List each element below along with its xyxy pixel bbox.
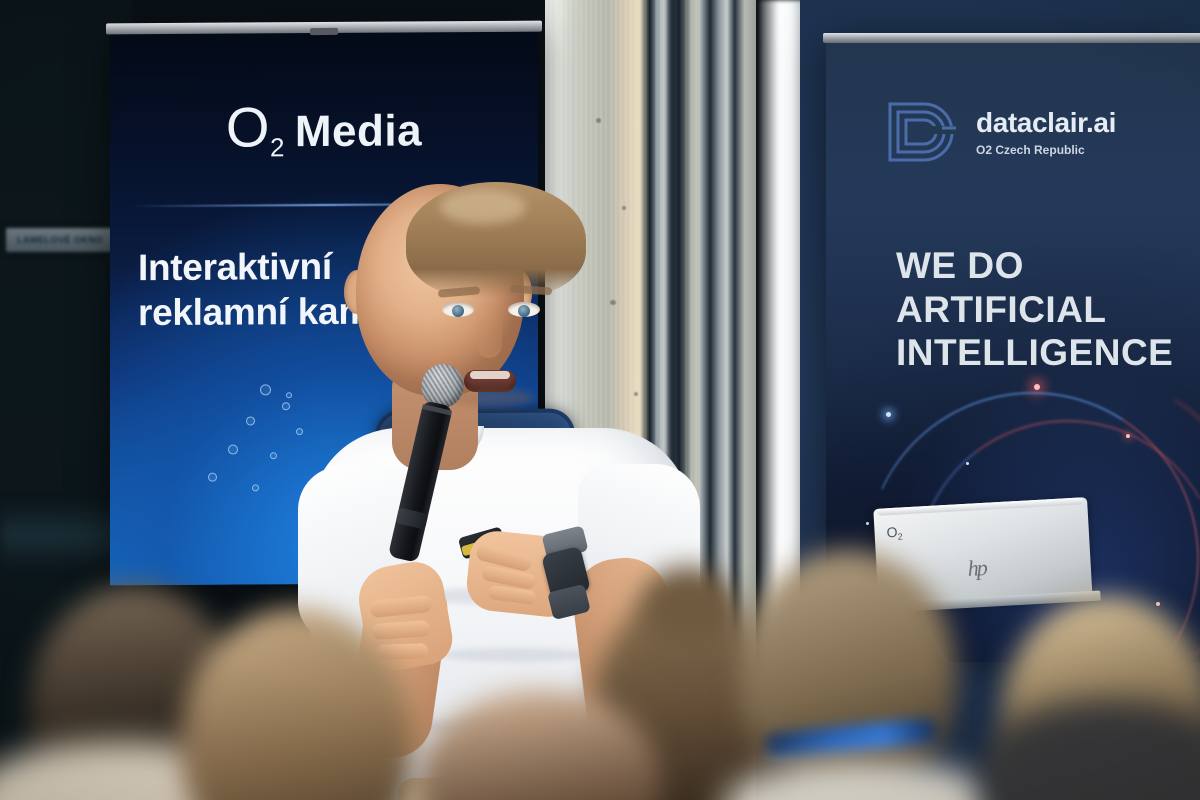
dc-claim-line1: WE DO	[896, 244, 1173, 288]
left-eye	[442, 302, 474, 317]
conference-photo-scene: LAMELOVÉ OKNO O2Media Interaktivní rekla…	[0, 0, 1200, 800]
dataclair-logo-block: dataclair.ai O2 Czech Republic	[884, 98, 1116, 168]
left-iris	[452, 305, 464, 317]
laptop-lid: O2 hp	[873, 497, 1092, 605]
dc-claim-line3: INTELLIGENCE	[896, 331, 1173, 375]
banner-rail-clip	[310, 28, 338, 35]
hp-logo-icon: hp	[967, 555, 986, 582]
dataclair-brand-name: dataclair.ai	[976, 109, 1116, 137]
wall-sign: LAMELOVÉ OKNO	[6, 228, 114, 252]
o2-logo: O2Media	[110, 93, 538, 165]
dataclair-banner-rail	[823, 33, 1200, 43]
hair-highlight	[440, 190, 526, 224]
khaki-chinos	[398, 778, 626, 800]
dataclair-claim: WE DO ARTIFICIAL INTELLIGENCE	[896, 244, 1173, 375]
window-frame	[700, 0, 756, 800]
nose	[476, 312, 502, 358]
laptop-sticker-sub: 2	[897, 531, 903, 541]
speaker-person	[300, 178, 700, 800]
dc-claim-line2: ARTIFICIAL	[896, 288, 1173, 332]
dc-monogram-icon	[884, 98, 958, 168]
wall-sign-label: LAMELOVÉ OKNO	[6, 228, 114, 252]
hp-laptop: O2 hp	[873, 497, 1092, 613]
o2-sticker-icon: O2	[886, 523, 903, 542]
o2-logo-media-word: Media	[295, 106, 422, 156]
right-eye	[508, 302, 540, 317]
o2-logo-o: O	[226, 95, 270, 158]
right-iris	[518, 305, 530, 317]
teeth	[470, 371, 510, 379]
laptop-sticker-o: O	[886, 524, 898, 541]
dataclair-subtitle: O2 Czech Republic	[976, 143, 1116, 157]
o2-logo-subscript: 2	[270, 132, 285, 162]
